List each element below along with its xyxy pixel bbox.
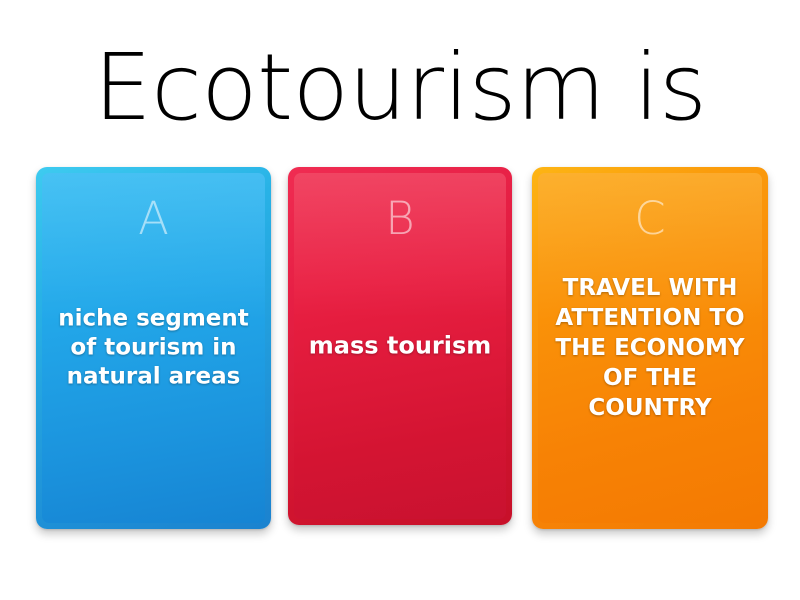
answer-card-c-surface: C TRAVEL WITH ATTENTION TO THE ECONOMY O…	[538, 173, 762, 523]
quiz-slide: Ecotourism is A niche segment of tourism…	[0, 0, 800, 600]
answer-card-a[interactable]: A niche segment of tourism in natural ar…	[36, 167, 271, 529]
answer-letter-c: C	[538, 195, 762, 243]
answer-card-c[interactable]: C TRAVEL WITH ATTENTION TO THE ECONOMY O…	[532, 167, 768, 529]
answer-text-a: niche segment of tourism in natural area…	[51, 305, 256, 392]
answer-letter-a: A	[42, 195, 265, 243]
answer-card-b[interactable]: B mass tourism	[288, 167, 512, 525]
answer-text-b: mass tourism	[303, 332, 497, 361]
answer-options-row: A niche segment of tourism in natural ar…	[0, 167, 800, 537]
answer-card-a-surface: A niche segment of tourism in natural ar…	[42, 173, 265, 523]
answer-card-b-surface: B mass tourism	[294, 173, 506, 519]
answer-text-c: TRAVEL WITH ATTENTION TO THE ECONOMY OF …	[547, 273, 753, 423]
answer-letter-b: B	[294, 195, 506, 243]
question-title: Ecotourism is	[0, 36, 800, 140]
